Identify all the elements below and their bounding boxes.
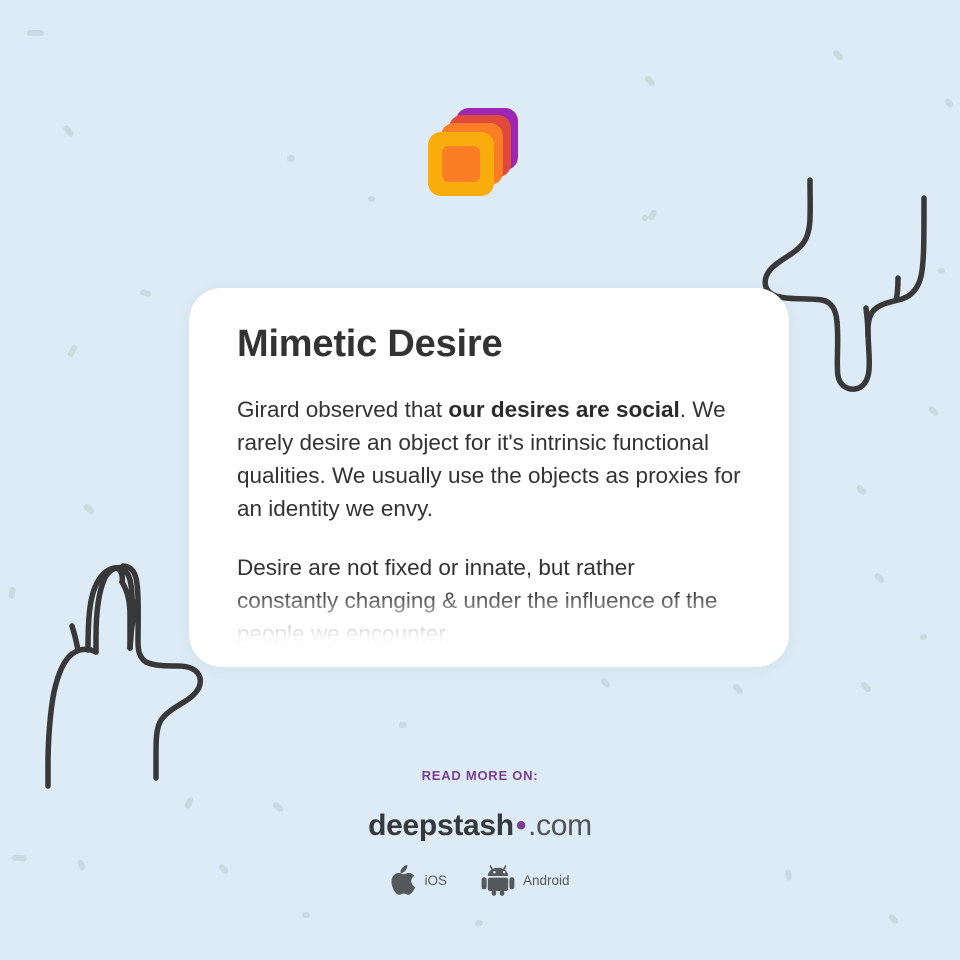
background-speck: [399, 722, 407, 728]
background-speck: [67, 344, 79, 358]
background-speck: [943, 97, 954, 108]
store-label-android: Android: [523, 873, 570, 888]
paragraph-2-lead: Desire are not fixed or innate, but rath…: [237, 555, 717, 646]
background-speck: [647, 209, 658, 222]
store-link-ios[interactable]: iOS: [390, 865, 447, 896]
background-speck: [139, 289, 151, 297]
background-speck: [599, 677, 611, 689]
background-speck: [732, 683, 745, 696]
paragraph-1-emphasis: our desires are social: [448, 397, 679, 422]
apple-icon: [390, 865, 416, 896]
read-more-label: READ MORE ON:: [0, 768, 960, 783]
background-speck: [860, 681, 873, 694]
wordmark-dot: •: [514, 809, 528, 842]
deepstash-logo: [428, 108, 520, 196]
logo-layer-amber: [428, 132, 494, 196]
background-speck: [475, 920, 483, 926]
background-speck: [855, 484, 867, 496]
background-speck: [62, 124, 75, 138]
android-icon: [481, 865, 515, 896]
wordmark-name: deepstash: [368, 809, 514, 842]
card-paragraph-2: Desire are not fixed or innate, but rath…: [237, 551, 741, 650]
store-label-ios: iOS: [424, 873, 447, 888]
background-speck: [927, 405, 939, 417]
background-speck: [302, 912, 310, 918]
background-speck: [920, 634, 927, 640]
background-speck: [368, 196, 375, 202]
background-speck: [83, 503, 96, 515]
background-speck: [644, 75, 657, 88]
background-speck: [873, 572, 885, 584]
card-content: Mimetic Desire Girard observed that our …: [189, 288, 789, 650]
background-speck: [887, 913, 899, 925]
footer: READ MORE ON: deepstash•.com iOS Android: [0, 768, 960, 896]
background-speck: [27, 30, 44, 36]
background-speck: [642, 215, 648, 221]
card-title: Mimetic Desire: [237, 323, 741, 367]
card-paragraph-1: Girard observed that our desires are soc…: [237, 393, 741, 525]
background-speck: [832, 49, 845, 62]
background-speck: [287, 155, 295, 162]
store-link-android[interactable]: Android: [481, 865, 570, 896]
paragraph-1-lead: Girard observed that: [237, 397, 448, 422]
app-store-row: iOS Android: [0, 865, 960, 896]
background-speck: [8, 587, 16, 600]
pointing-hand-bottom-left-icon: [18, 552, 218, 790]
wordmark-tld: .com: [528, 809, 592, 842]
deepstash-wordmark[interactable]: deepstash•.com: [0, 809, 960, 843]
idea-card[interactable]: Mimetic Desire Girard observed that our …: [189, 288, 789, 667]
